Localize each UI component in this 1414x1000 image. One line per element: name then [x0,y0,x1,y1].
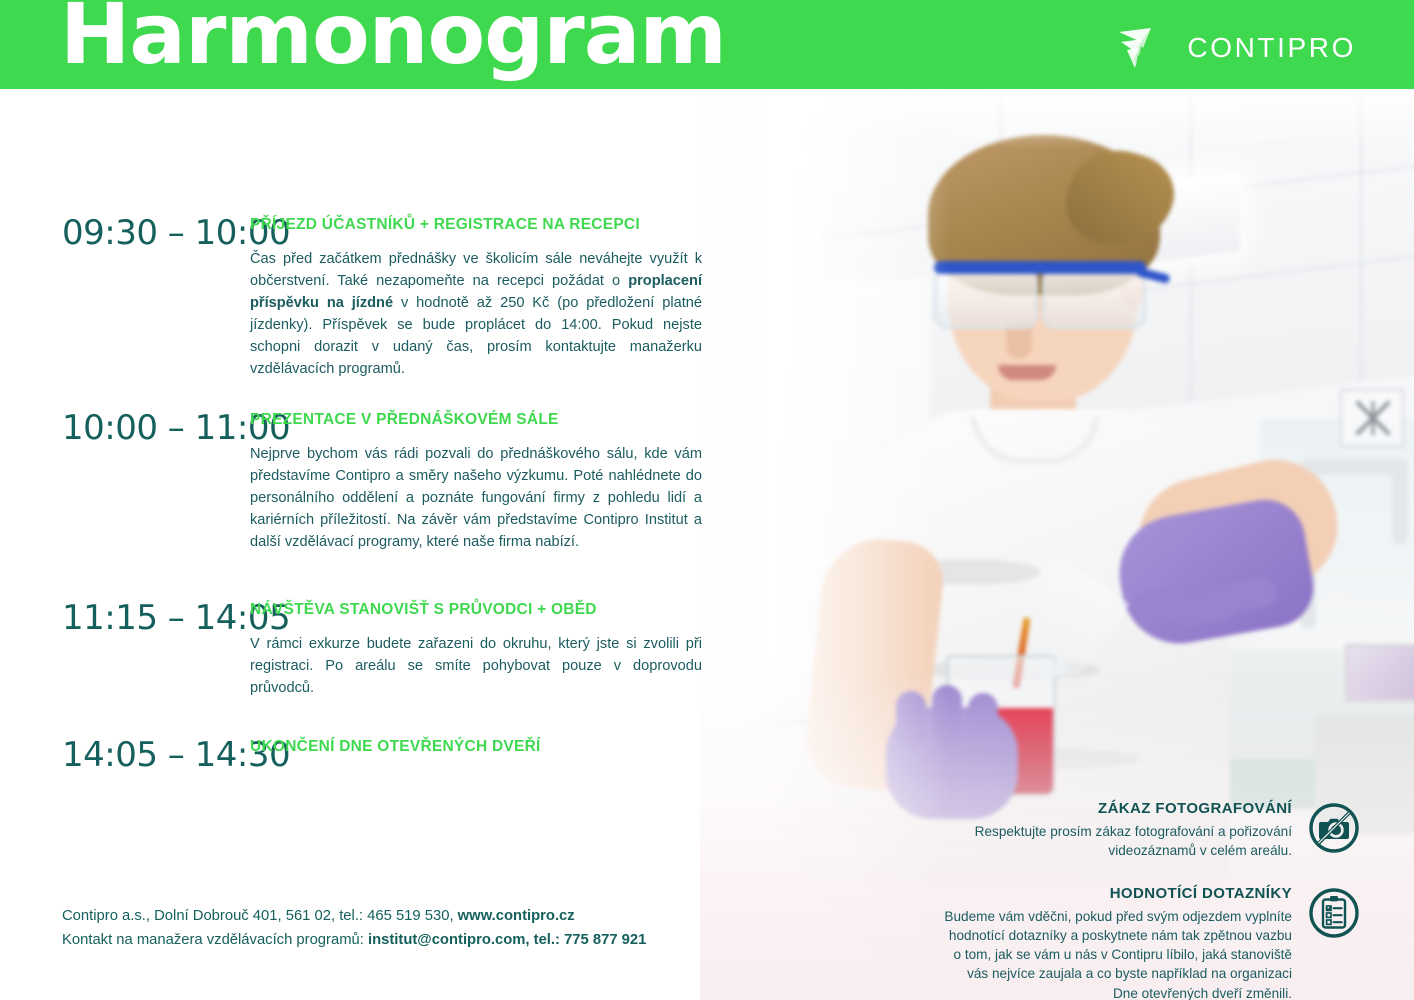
schedule-row: 10:00 – 11:00PREZENTACE V PŘEDNÁŠKOVÉM S… [0,411,770,553]
brand-name: CONTIPRO [1187,32,1356,64]
notice-heading: ZÁKAZ FOTOGRAFOVÁNÍ [962,800,1292,817]
schedule-body: PREZENTACE V PŘEDNÁŠKOVÉM SÁLENejprve by… [250,411,702,553]
schedule-row: 14:05 – 14:30UKONČENÍ DNE OTEVŘENÝCH DVE… [0,738,770,772]
notice-item: ZÁKAZ FOTOGRAFOVÁNÍRespektujte prosím zá… [940,800,1360,861]
schedule-time: 09:30 – 10:00 [0,216,250,250]
contipro-logo[interactable]: CONTIPRO [1117,26,1356,70]
schedule-title: PŘÍJEZD ÚČASTNÍKŮ + REGISTRACE NA RECEPC… [250,216,702,235]
schedule-body: PŘÍJEZD ÚČASTNÍKŮ + REGISTRACE NA RECEPC… [250,216,702,381]
no-photography-icon [1308,802,1360,854]
schedule-description: V rámci exkurze budete zařazeni do okruh… [250,633,702,700]
notice-description: Respektujte prosím zákaz fotografování a… [962,822,1292,861]
schedule-time: 10:00 – 11:00 [0,411,250,445]
contact-footer: Contipro a.s., Dolní Dobrouč 401, 561 02… [62,905,646,952]
notice-description: Budeme vám vděčni, pokud před svým odjez… [940,907,1292,1000]
page-title: Harmonogram [60,0,726,76]
schedule-time: 11:15 – 14:05 [0,601,250,635]
notices-block: ZÁKAZ FOTOGRAFOVÁNÍRespektujte prosím zá… [940,800,1360,1000]
schedule-row: 11:15 – 14:05NÁVŠTĚVA STANOVIŠŤ S PRŮVOD… [0,601,770,699]
notice-text-block: HODNOTÍCÍ DOTAZNÍKYBudeme vám vděčni, po… [940,885,1292,1000]
schedule-title: NÁVŠTĚVA STANOVIŠŤ S PRŮVODCI + OBĚD [250,601,702,620]
schedule-description: Čas před začátkem přednášky ve školicím … [250,248,702,381]
contact-line-1: Contipro a.s., Dolní Dobrouč 401, 561 02… [62,905,646,929]
schedule-body: UKONČENÍ DNE OTEVŘENÝCH DVEŘÍ [250,738,702,770]
schedule-body: NÁVŠTĚVA STANOVIŠŤ S PRŮVODCI + OBĚDV rá… [250,601,702,699]
page-header: Harmonogram CONTIPRO [0,0,1414,89]
schedule-title: PREZENTACE V PŘEDNÁŠKOVÉM SÁLE [250,411,702,430]
contact-line-2: Kontakt na manažera vzdělávacích program… [62,929,646,953]
notice-heading: HODNOTÍCÍ DOTAZNÍKY [940,885,1292,902]
schedule-time: 14:05 – 14:30 [0,738,250,772]
notice-item: HODNOTÍCÍ DOTAZNÍKYBudeme vám vděčni, po… [940,885,1360,1000]
contipro-bird-mark [1117,26,1173,70]
notice-text-block: ZÁKAZ FOTOGRAFOVÁNÍRespektujte prosím zá… [962,800,1292,861]
schedule-row: 09:30 – 10:00PŘÍJEZD ÚČASTNÍKŮ + REGISTR… [0,216,770,381]
schedule-description: Nejprve bychom vás rádi pozvali do předn… [250,443,702,554]
schedule-title: UKONČENÍ DNE OTEVŘENÝCH DVEŘÍ [250,738,702,757]
clipboard-checklist-icon [1308,887,1360,939]
poster-root: Harmonogram CONTIPRO 09:30 – 10:00PŘÍJEZ… [0,0,1414,1000]
